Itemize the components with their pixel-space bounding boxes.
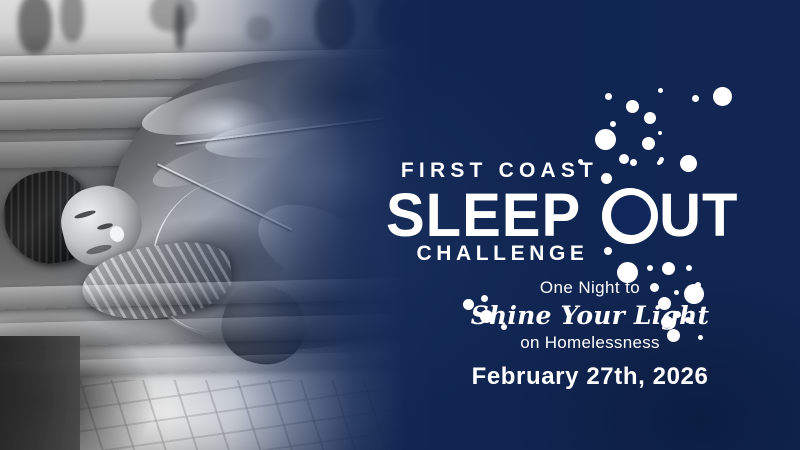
logo-kicker: FIRST COAST	[392, 160, 607, 181]
tagline-block: One Night to Shine Your Light on Homeles…	[440, 278, 740, 354]
event-date: February 27th, 2026	[420, 363, 760, 391]
moon-o-icon	[602, 188, 658, 244]
event-lockup: FIRST COAST SLEEP UT CHALLENGE One Night…	[380, 0, 800, 450]
logo-subhead: CHALLENGE	[395, 243, 610, 264]
wordmark-sleep: SLEEP	[386, 185, 581, 246]
wordmark-ut: UT	[659, 185, 738, 246]
logo-wordmark: SLEEP UT	[386, 187, 739, 245]
tagline-line-3: on Homelessness	[440, 333, 740, 353]
tagline-line-1: One Night to	[440, 278, 740, 298]
tagline-line-2-script: Shine Your Light	[440, 299, 740, 333]
event-banner: FIRST COAST SLEEP UT CHALLENGE One Night…	[0, 0, 800, 450]
